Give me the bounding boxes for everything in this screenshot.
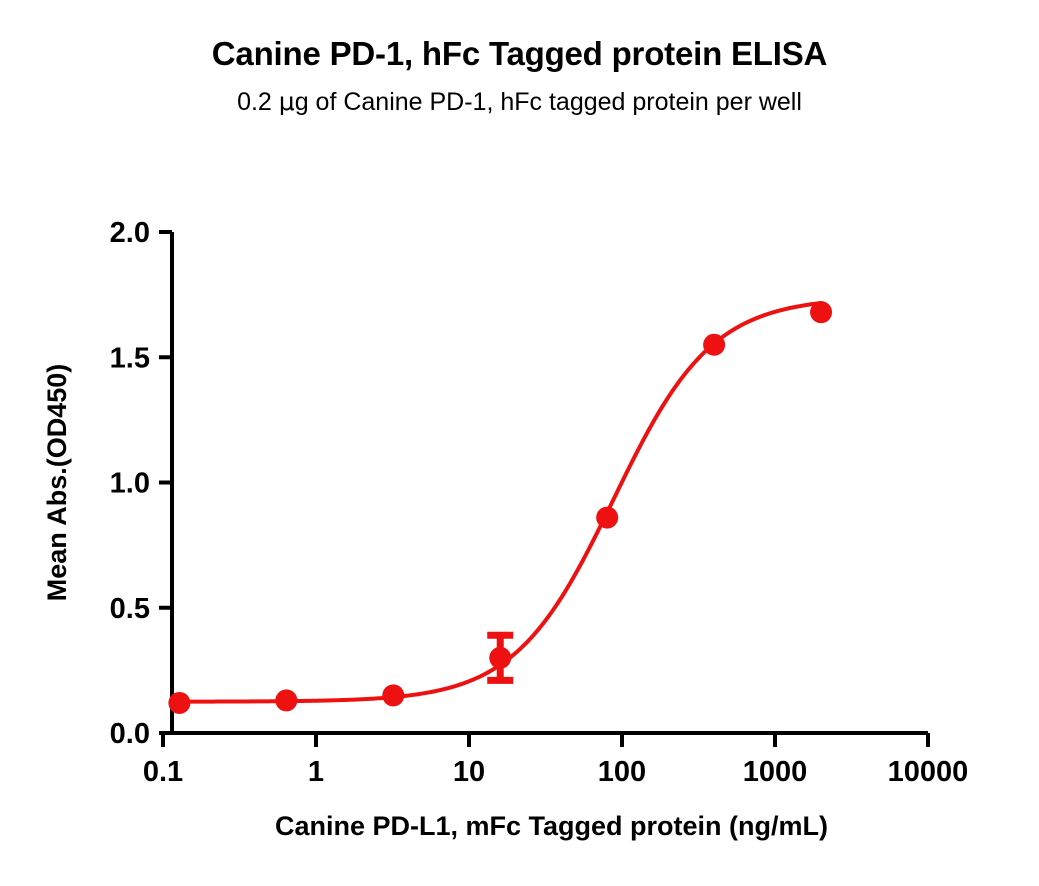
data-points bbox=[168, 301, 832, 714]
data-point-marker bbox=[810, 301, 832, 323]
plot-area: 0.00.51.01.52.00.1110100100010000 Canine… bbox=[0, 0, 1039, 886]
y-tick-label: 0.0 bbox=[110, 718, 150, 750]
data-point-marker bbox=[703, 334, 725, 356]
y-tick-label: 1.0 bbox=[110, 468, 150, 500]
data-point-marker bbox=[596, 507, 618, 529]
x-tick-label: 100 bbox=[598, 756, 646, 788]
x-tick-label: 0.1 bbox=[143, 756, 183, 788]
y-tick-label: 0.5 bbox=[110, 593, 150, 625]
elisa-figure: Canine PD-1, hFc Tagged protein ELISA 0.… bbox=[0, 0, 1039, 886]
data-point-marker bbox=[168, 692, 190, 714]
x-tick-label: 1 bbox=[308, 756, 324, 788]
data-point-marker bbox=[275, 689, 297, 711]
y-axis-title: Mean Abs.(OD450) bbox=[42, 364, 72, 602]
y-tick-label: 2.0 bbox=[110, 217, 150, 249]
x-tick-label: 10 bbox=[453, 756, 485, 788]
x-axis-title: Canine PD-L1, mFc Tagged protein (ng/mL) bbox=[275, 811, 828, 841]
x-tick-label: 10000 bbox=[888, 756, 969, 788]
y-tick-label: 1.5 bbox=[110, 342, 150, 374]
data-point-marker bbox=[489, 647, 511, 669]
x-tick-label: 1000 bbox=[743, 756, 808, 788]
data-point-marker bbox=[382, 684, 404, 706]
